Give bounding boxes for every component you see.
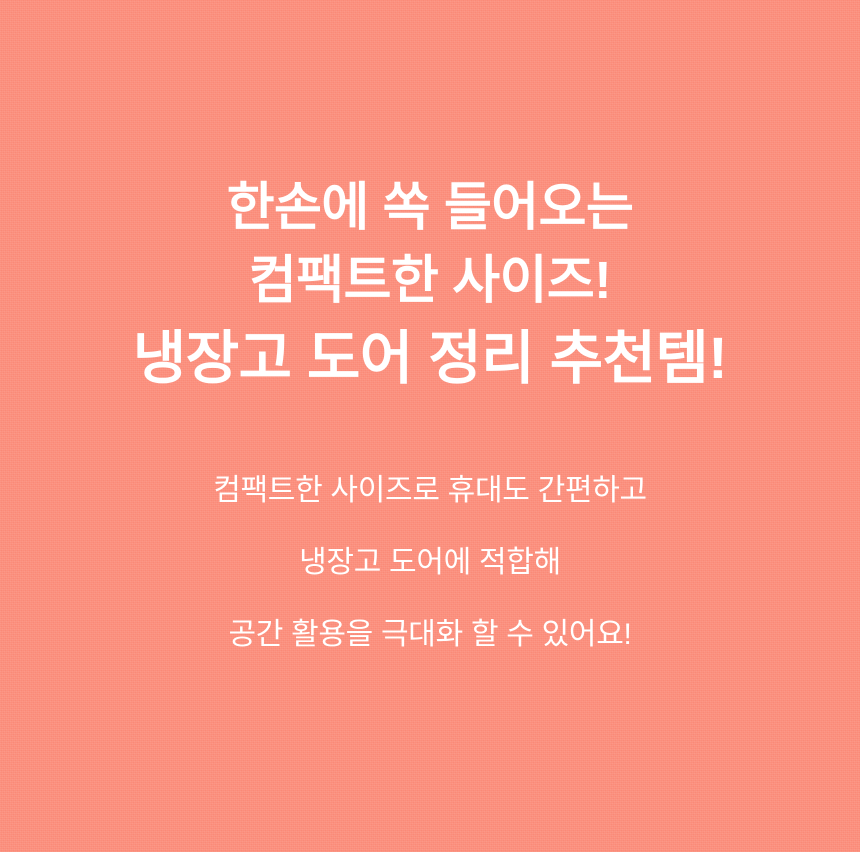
headline-line-3: 냉장고 도어 정리 추천템! [0, 330, 860, 388]
body-line-3: 공간 활용을 극대화 할 수 있어요! [0, 620, 860, 650]
headline: 한손에 쏙 들어오는 컴팩트한 사이즈! 냉장고 도어 정리 추천템! [0, 182, 860, 388]
promo-banner: 한손에 쏙 들어오는 컴팩트한 사이즈! 냉장고 도어 정리 추천템! 컴팩트한… [0, 0, 860, 852]
body-copy: 컴팩트한 사이즈로 휴대도 간편하고 냉장고 도어에 적합해 공간 활용을 극대… [0, 476, 860, 650]
headline-line-1: 한손에 쏙 들어오는 [0, 182, 860, 234]
headline-line-2: 컴팩트한 사이즈! [0, 255, 860, 307]
body-line-2: 냉장고 도어에 적합해 [0, 548, 860, 578]
body-line-1: 컴팩트한 사이즈로 휴대도 간편하고 [0, 476, 860, 506]
banner-content: 한손에 쏙 들어오는 컴팩트한 사이즈! 냉장고 도어 정리 추천템! 컴팩트한… [0, 0, 860, 650]
